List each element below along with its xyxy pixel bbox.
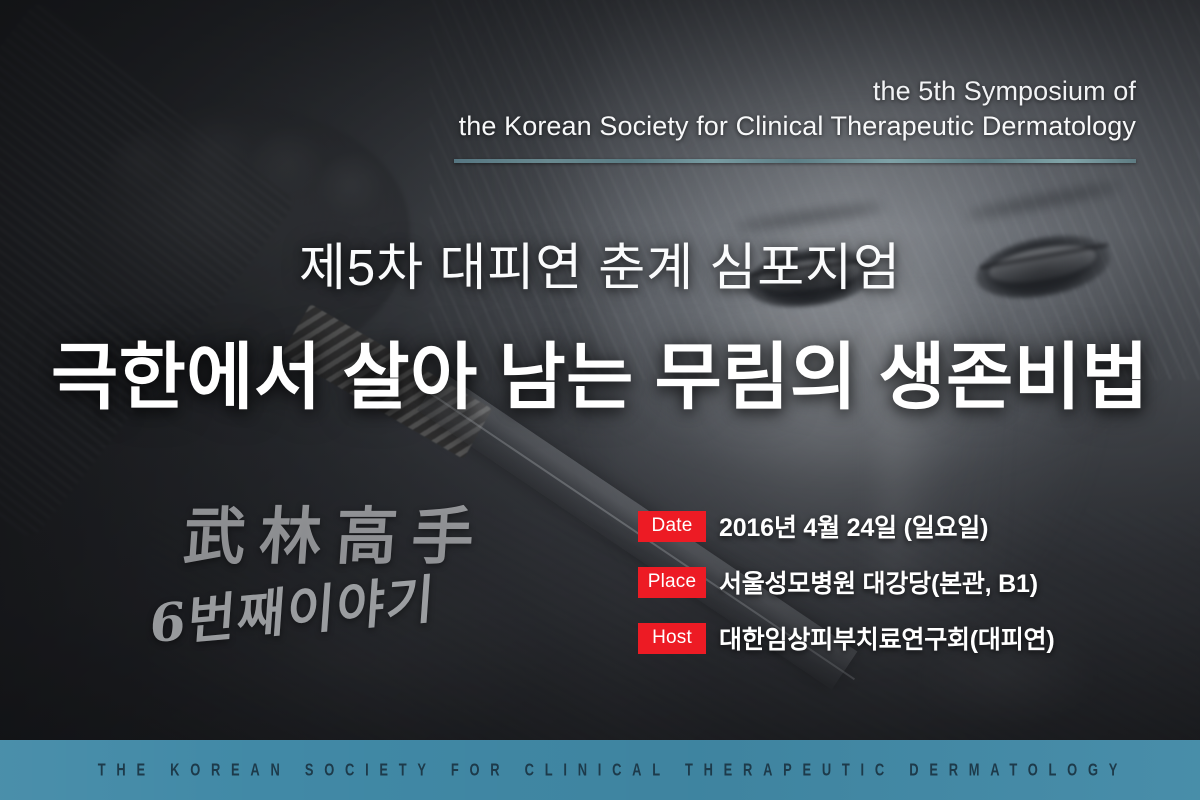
detail-row-place: Place 서울성모병원 대강당(본관, B1) xyxy=(638,564,1054,600)
english-header: the 5th Symposium of the Korean Society … xyxy=(436,74,1136,145)
detail-row-date: Date 2016년 4월 24일 (일요일) xyxy=(638,508,1054,544)
host-badge: Host xyxy=(638,623,706,654)
korean-subtitle: 제5차 대피연 춘계 심포지엄 xyxy=(0,226,1200,300)
footer-society-name: THE KOREAN SOCIETY FOR CLINICAL THERAPEU… xyxy=(84,760,1116,780)
header-divider-rule xyxy=(454,159,1136,163)
host-value: 대한임상피부치료연구회(대피연) xyxy=(719,620,1054,656)
detail-row-host: Host 대한임상피부치료연구회(대피연) xyxy=(638,620,1054,656)
place-value: 서울성모병원 대강당(본관, B1) xyxy=(719,564,1038,600)
place-badge: Place xyxy=(638,567,706,598)
society-name-label: the Korean Society for Clinical Therapeu… xyxy=(436,108,1136,145)
symposium-edition-label: the 5th Symposium of xyxy=(436,74,1136,108)
date-value: 2016년 4월 24일 (일요일) xyxy=(719,508,988,544)
symposium-poster: the 5th Symposium of the Korean Society … xyxy=(0,0,1200,800)
date-badge: Date xyxy=(638,511,706,542)
korean-headline: 극한에서 살아 남는 무림의 생존비법 xyxy=(0,318,1200,424)
footer-bar: THE KOREAN SOCIETY FOR CLINICAL THERAPEU… xyxy=(0,740,1200,800)
event-details: Date 2016년 4월 24일 (일요일) Place 서울성모병원 대강당… xyxy=(638,508,1054,656)
